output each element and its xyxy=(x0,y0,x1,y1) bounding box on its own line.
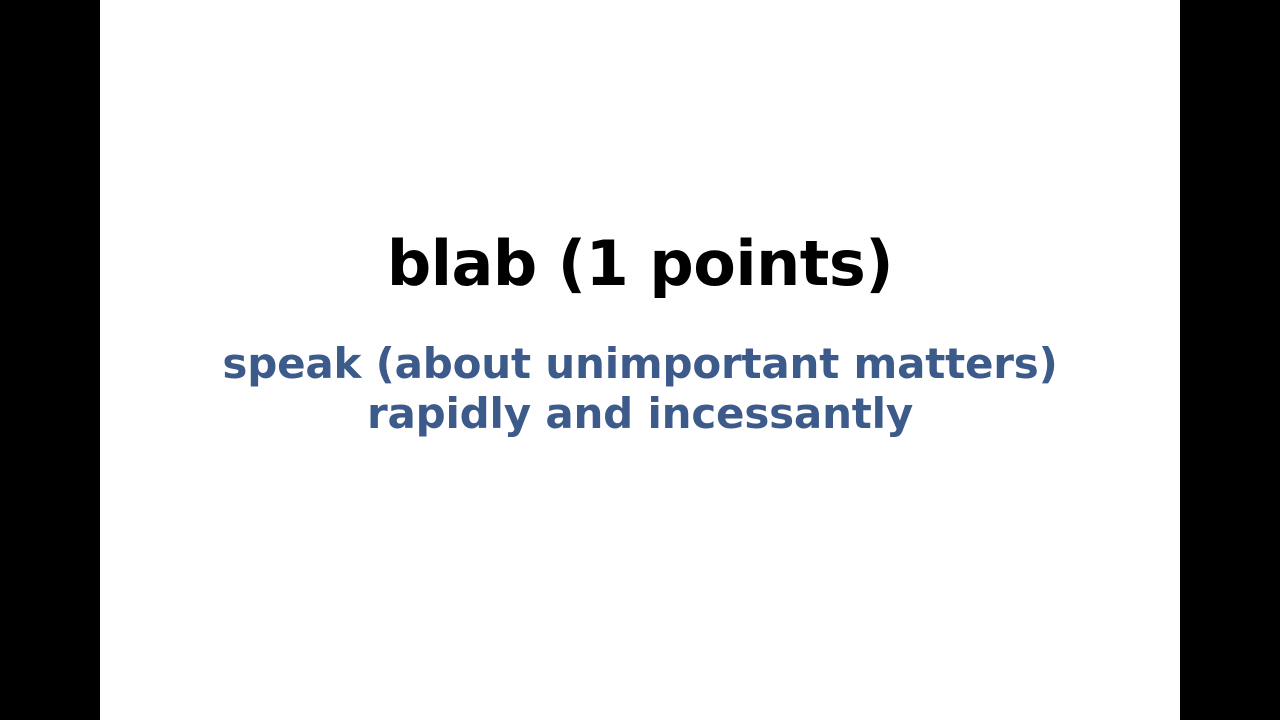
screen: blab (1 points) speak (about unimportant… xyxy=(0,0,1280,720)
letterbox-bar-left xyxy=(0,0,100,720)
flashcard-slide: blab (1 points) speak (about unimportant… xyxy=(100,0,1180,720)
flashcard-definition: speak (about unimportant matters) rapidl… xyxy=(100,339,1180,440)
flashcard-content: blab (1 points) speak (about unimportant… xyxy=(100,233,1180,440)
flashcard-term: blab (1 points) xyxy=(100,233,1180,295)
letterbox-bar-right xyxy=(1180,0,1280,720)
